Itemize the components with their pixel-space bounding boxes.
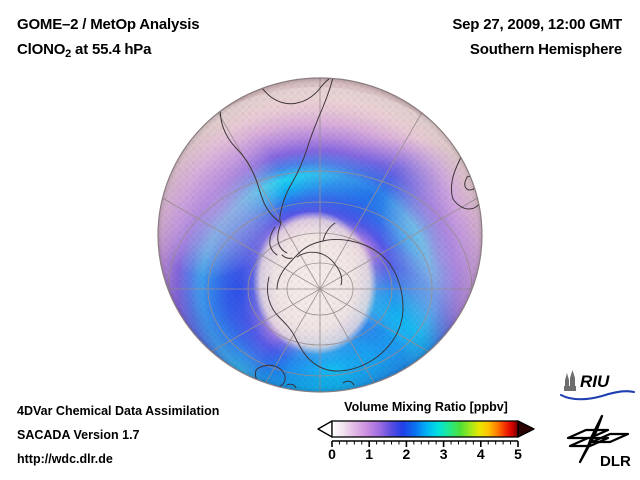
header-instrument-title: GOME–2 / MetOp Analysis [17,16,199,33]
footer-method-line: 4DVar Chemical Data Assimilation [17,404,219,418]
header-region: Southern Hemisphere [470,41,622,58]
riu-wordmark: RIU [580,372,610,391]
riu-logo: RIU [558,369,636,403]
footer-version-line: SACADA Version 1.7 [17,428,140,442]
footer-url-link[interactable]: http://wdc.dlr.de [17,452,113,466]
colorbar-tick-label: 2 [402,446,410,462]
header-species-title: ClONO2 at 55.4 hPa [17,41,151,60]
colorbar-tick-label: 5 [514,446,522,462]
species-pressure-level: at 55.4 hPa [71,41,151,58]
colorbar-tick-labels: 012345 [312,446,540,468]
dlr-logo: DLR [562,412,636,470]
colorbar-tick-label: 3 [440,446,448,462]
colorbar-low-extend-arrow [318,421,332,437]
dlr-wordmark: DLR [600,453,631,470]
colorbar-tick-label: 1 [365,446,373,462]
colorbar-high-extend-arrow [518,421,534,437]
visualization-page: GOME–2 / MetOp Analysis ClONO2 at 55.4 h… [0,0,640,480]
colorbar: Volume Mixing Ratio [ppbv] 012345 [312,400,540,472]
riu-cathedral-towers-icon [564,370,576,391]
orthographic-globe-map [157,77,483,393]
header-datetime: Sep 27, 2009, 12:00 GMT [452,16,622,33]
globe-field-layer [157,77,483,393]
colorbar-tick-label: 4 [477,446,485,462]
coastline-africa-east [469,132,483,137]
riu-wave-icon [561,391,634,399]
colorbar-body [332,421,518,437]
colorbar-gradient-bar [312,418,540,448]
coastline-africa-north [457,100,479,107]
colorbar-title: Volume Mixing Ratio [ppbv] [312,400,540,414]
species-formula-prefix: ClONO [17,41,65,58]
colorbar-tick-label: 0 [328,446,336,462]
globe-limb-shading [158,78,482,392]
